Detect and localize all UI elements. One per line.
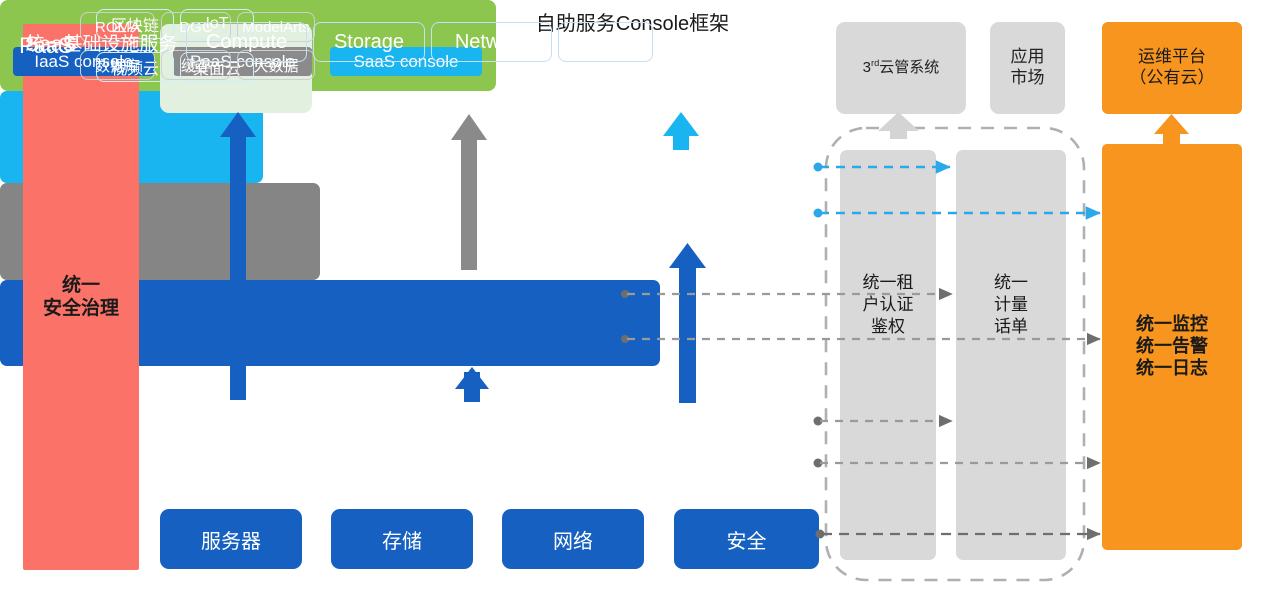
arrow-saas-to-saas-console: [663, 112, 699, 150]
app-market-box: 应用 市场: [990, 22, 1065, 114]
app-market-line2: 市场: [1011, 68, 1045, 89]
unified-metering-column: 统一 计量 话单: [956, 150, 1066, 560]
security-pillar-line1: 统一: [43, 274, 119, 297]
meter-line1: 统一: [994, 272, 1028, 294]
third-party-cloud-mgmt-box: 3rd云管系统: [836, 22, 966, 114]
security-pillar-line2: 安全治理: [43, 297, 119, 320]
ops-platform-box: 运维平台 （公有云）: [1102, 22, 1242, 114]
meter-line2: 计量: [994, 294, 1028, 316]
auth-line1: 统一租: [863, 272, 914, 294]
arrow-to-third-party: [878, 112, 919, 139]
ops-detail-box: 统一监控 统一告警 统一日志: [1102, 144, 1242, 550]
infra-chip-network[interactable]: Network: [431, 22, 552, 62]
ops-detail-line2: 统一告警: [1136, 336, 1208, 358]
hardware-server-box: 服务器: [160, 509, 302, 569]
third-party-label: 3rd云管系统: [863, 58, 940, 77]
auth-line3: 鉴权: [863, 316, 914, 338]
hardware-storage-box: 存储: [331, 509, 473, 569]
arrow-ops-detail-to-platform: [1154, 114, 1189, 144]
unified-tenant-auth-column: 统一租 户认证 鉴权: [840, 150, 936, 560]
hardware-network-box: 网络: [502, 509, 644, 569]
arrow-infra-to-paas: [455, 367, 489, 402]
infra-chip-cce[interactable]: CCE: [558, 22, 653, 62]
infra-chip-storage[interactable]: Storage: [313, 22, 425, 62]
infra-chip-compute[interactable]: Compute: [186, 22, 307, 62]
security-governance-pillar: 统一 安全治理: [23, 24, 139, 570]
meter-line3: 话单: [994, 316, 1028, 338]
ops-platform-line2: （公有云）: [1130, 68, 1215, 89]
app-market-line1: 应用: [1011, 47, 1045, 68]
arrow-infra-to-saas: [669, 243, 706, 403]
auth-line2: 户认证: [863, 294, 914, 316]
ops-detail-line1: 统一监控: [1136, 314, 1208, 336]
infra-label: 统一基础设施服务: [14, 29, 189, 56]
ops-platform-line1: 运维平台: [1130, 47, 1215, 68]
arrow-paas-to-console: [451, 114, 487, 270]
hardware-security-box: 安全: [674, 509, 819, 569]
architecture-diagram: 统一 安全治理 API网关 自助服务Console框架 IaaS console…: [0, 0, 1265, 605]
ops-detail-line3: 统一日志: [1136, 358, 1208, 380]
